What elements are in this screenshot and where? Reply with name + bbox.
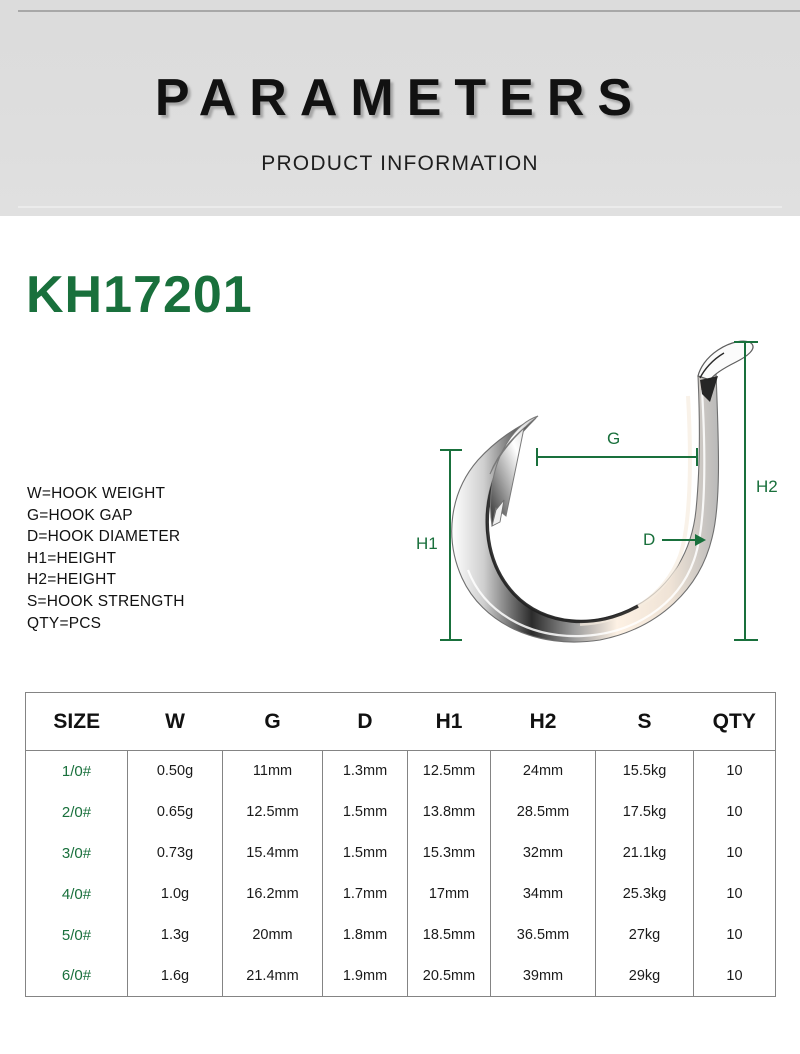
cell-w: 1.0g: [128, 874, 223, 915]
table-row: 4/0# 1.0g 16.2mm 1.7mm 17mm 34mm 25.3kg …: [26, 874, 776, 915]
cell-size: 6/0#: [26, 956, 128, 997]
cell-size: 5/0#: [26, 915, 128, 956]
cell-s: 29kg: [596, 956, 694, 997]
cell-g: 16.2mm: [223, 874, 323, 915]
cell-d: 1.5mm: [323, 792, 408, 833]
gap-dimension-line: [537, 448, 697, 466]
cell-qty: 10: [694, 833, 776, 874]
cell-s: 25.3kg: [596, 874, 694, 915]
cell-h1: 12.5mm: [408, 751, 491, 792]
cell-d: 1.7mm: [323, 874, 408, 915]
cell-h1: 15.3mm: [408, 833, 491, 874]
cell-d: 1.9mm: [323, 956, 408, 997]
height1-label: H1: [416, 534, 438, 554]
column-header-s: S: [596, 693, 694, 751]
cell-w: 0.73g: [128, 833, 223, 874]
cell-d: 1.3mm: [323, 751, 408, 792]
cell-s: 21.1kg: [596, 833, 694, 874]
cell-qty: 10: [694, 956, 776, 997]
column-header-qty: QTY: [694, 693, 776, 751]
cell-h2: 39mm: [491, 956, 596, 997]
specification-table: SIZE W G D H1 H2 S QTY 1/0# 0.50g 11mm 1…: [25, 692, 776, 997]
height2-label: H2: [756, 477, 778, 497]
cell-g: 15.4mm: [223, 833, 323, 874]
cell-size: 1/0#: [26, 751, 128, 792]
cell-h2: 24mm: [491, 751, 596, 792]
product-parameters-page: PARAMETERS PRODUCT INFORMATION KH17201 W…: [0, 0, 800, 1054]
hook-body: [452, 341, 753, 642]
column-header-g: G: [223, 693, 323, 751]
table-row: 6/0# 1.6g 21.4mm 1.9mm 20.5mm 39mm 29kg …: [26, 956, 776, 997]
cell-h2: 34mm: [491, 874, 596, 915]
cell-size: 2/0#: [26, 792, 128, 833]
table-row: 5/0# 1.3g 20mm 1.8mm 18.5mm 36.5mm 27kg …: [26, 915, 776, 956]
column-header-h2: H2: [491, 693, 596, 751]
legend-line: QTY=PCS: [27, 613, 185, 635]
cell-h2: 28.5mm: [491, 792, 596, 833]
height2-dimension-line: [734, 342, 758, 640]
table-row: 2/0# 0.65g 12.5mm 1.5mm 13.8mm 28.5mm 17…: [26, 792, 776, 833]
cell-size: 3/0#: [26, 833, 128, 874]
column-header-d: D: [323, 693, 408, 751]
cell-g: 12.5mm: [223, 792, 323, 833]
cell-w: 1.3g: [128, 915, 223, 956]
page-header-banner: PARAMETERS PRODUCT INFORMATION: [0, 0, 800, 216]
legend-line: S=HOOK STRENGTH: [27, 591, 185, 613]
page-subtitle: PRODUCT INFORMATION: [0, 152, 800, 176]
cell-g: 11mm: [223, 751, 323, 792]
cell-s: 15.5kg: [596, 751, 694, 792]
gap-label: G: [607, 429, 620, 449]
cell-d: 1.5mm: [323, 833, 408, 874]
hook-dimension-diagram: G H1 H2 D: [400, 330, 800, 670]
table-header-row: SIZE W G D H1 H2 S QTY: [26, 693, 776, 751]
cell-size: 4/0#: [26, 874, 128, 915]
legend-line: H1=HEIGHT: [27, 548, 185, 570]
cell-h1: 17mm: [408, 874, 491, 915]
cell-d: 1.8mm: [323, 915, 408, 956]
table-row: 3/0# 0.73g 15.4mm 1.5mm 15.3mm 32mm 21.1…: [26, 833, 776, 874]
cell-qty: 10: [694, 874, 776, 915]
cell-qty: 10: [694, 915, 776, 956]
abbreviation-legend: W=HOOK WEIGHT G=HOOK GAP D=HOOK DIAMETER…: [27, 483, 185, 634]
column-header-size: SIZE: [26, 693, 128, 751]
cell-h1: 18.5mm: [408, 915, 491, 956]
diameter-label: D: [643, 530, 655, 550]
cell-w: 1.6g: [128, 956, 223, 997]
cell-qty: 10: [694, 792, 776, 833]
cell-s: 17.5kg: [596, 792, 694, 833]
model-code-heading: KH17201: [26, 269, 253, 321]
cell-h2: 36.5mm: [491, 915, 596, 956]
legend-line: D=HOOK DIAMETER: [27, 526, 185, 548]
cell-h1: 20.5mm: [408, 956, 491, 997]
cell-h1: 13.8mm: [408, 792, 491, 833]
legend-line: W=HOOK WEIGHT: [27, 483, 185, 505]
header-bottom-divider: [18, 206, 782, 208]
table-row: 1/0# 0.50g 11mm 1.3mm 12.5mm 24mm 15.5kg…: [26, 751, 776, 792]
legend-line: H2=HEIGHT: [27, 569, 185, 591]
hook-illustration: [400, 330, 800, 670]
cell-w: 0.65g: [128, 792, 223, 833]
page-title: PARAMETERS: [0, 68, 800, 128]
legend-line: G=HOOK GAP: [27, 505, 185, 527]
header-top-divider: [18, 10, 800, 12]
cell-g: 21.4mm: [223, 956, 323, 997]
column-header-w: W: [128, 693, 223, 751]
column-header-h1: H1: [408, 693, 491, 751]
cell-g: 20mm: [223, 915, 323, 956]
cell-s: 27kg: [596, 915, 694, 956]
cell-qty: 10: [694, 751, 776, 792]
cell-w: 0.50g: [128, 751, 223, 792]
cell-h2: 32mm: [491, 833, 596, 874]
